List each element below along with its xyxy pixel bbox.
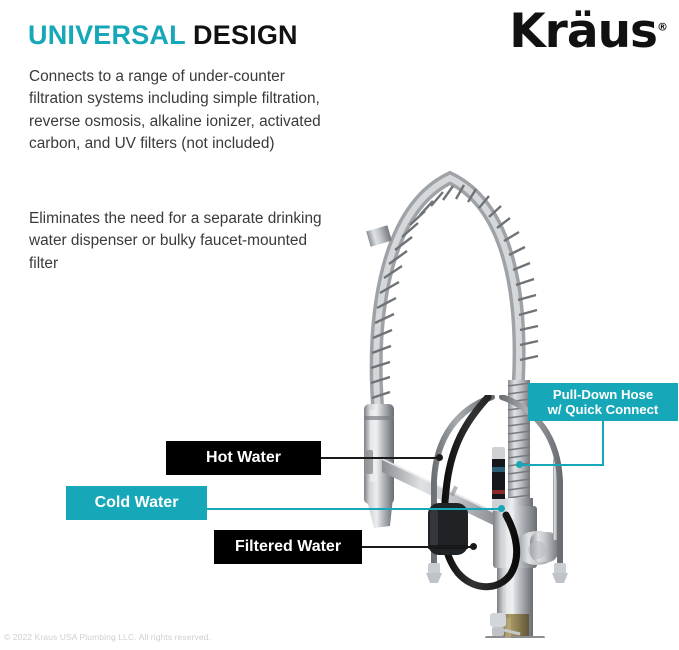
hot-water-leader-line — [321, 457, 439, 459]
callout-hot-water: Hot Water — [166, 441, 321, 475]
brand-wordmark: Kräus — [509, 4, 657, 59]
pull-down-leader-line-horizontal — [520, 464, 604, 466]
cold-water-supply-hose — [502, 397, 568, 583]
cold-water-leader-dot — [498, 505, 505, 512]
registered-trademark-icon: ® — [657, 20, 668, 33]
page-title: UNIVERSAL DESIGN — [28, 22, 298, 49]
callout-cold-water: Cold Water — [66, 486, 207, 520]
callout-pull-down-hose: Pull-Down Hose w/ Quick Connect — [528, 383, 678, 421]
cold-water-leader-line — [207, 508, 501, 510]
supply-hose-assembly — [380, 395, 580, 645]
hot-water-leader-dot — [436, 454, 443, 461]
feature-paragraph-1: Connects to a range of under-counter fil… — [29, 66, 339, 156]
product-feature-panel: UNIVERSAL DESIGN Connects to a range of … — [0, 0, 679, 650]
page-title-accent-word: UNIVERSAL — [28, 20, 185, 50]
filtered-water-leader-dot — [470, 543, 477, 550]
pull-down-leader-dot — [516, 461, 523, 468]
callout-pull-down-line1: Pull-Down Hose — [553, 387, 653, 402]
copyright-notice: © 2022 Kraus USA Plumbing LLC. All right… — [4, 632, 211, 642]
pull-down-leader-line-vertical — [602, 421, 604, 466]
callout-filtered-water: Filtered Water — [214, 530, 362, 564]
brand-logo: Kräus® — [509, 8, 668, 55]
feature-paragraph-2: Eliminates the need for a separate drink… — [29, 208, 339, 275]
hot-water-supply-hose — [426, 397, 492, 583]
page-title-plain-word: DESIGN — [193, 20, 298, 50]
filtered-water-leader-line — [362, 546, 473, 548]
callout-pull-down-line2: w/ Quick Connect — [548, 402, 659, 417]
